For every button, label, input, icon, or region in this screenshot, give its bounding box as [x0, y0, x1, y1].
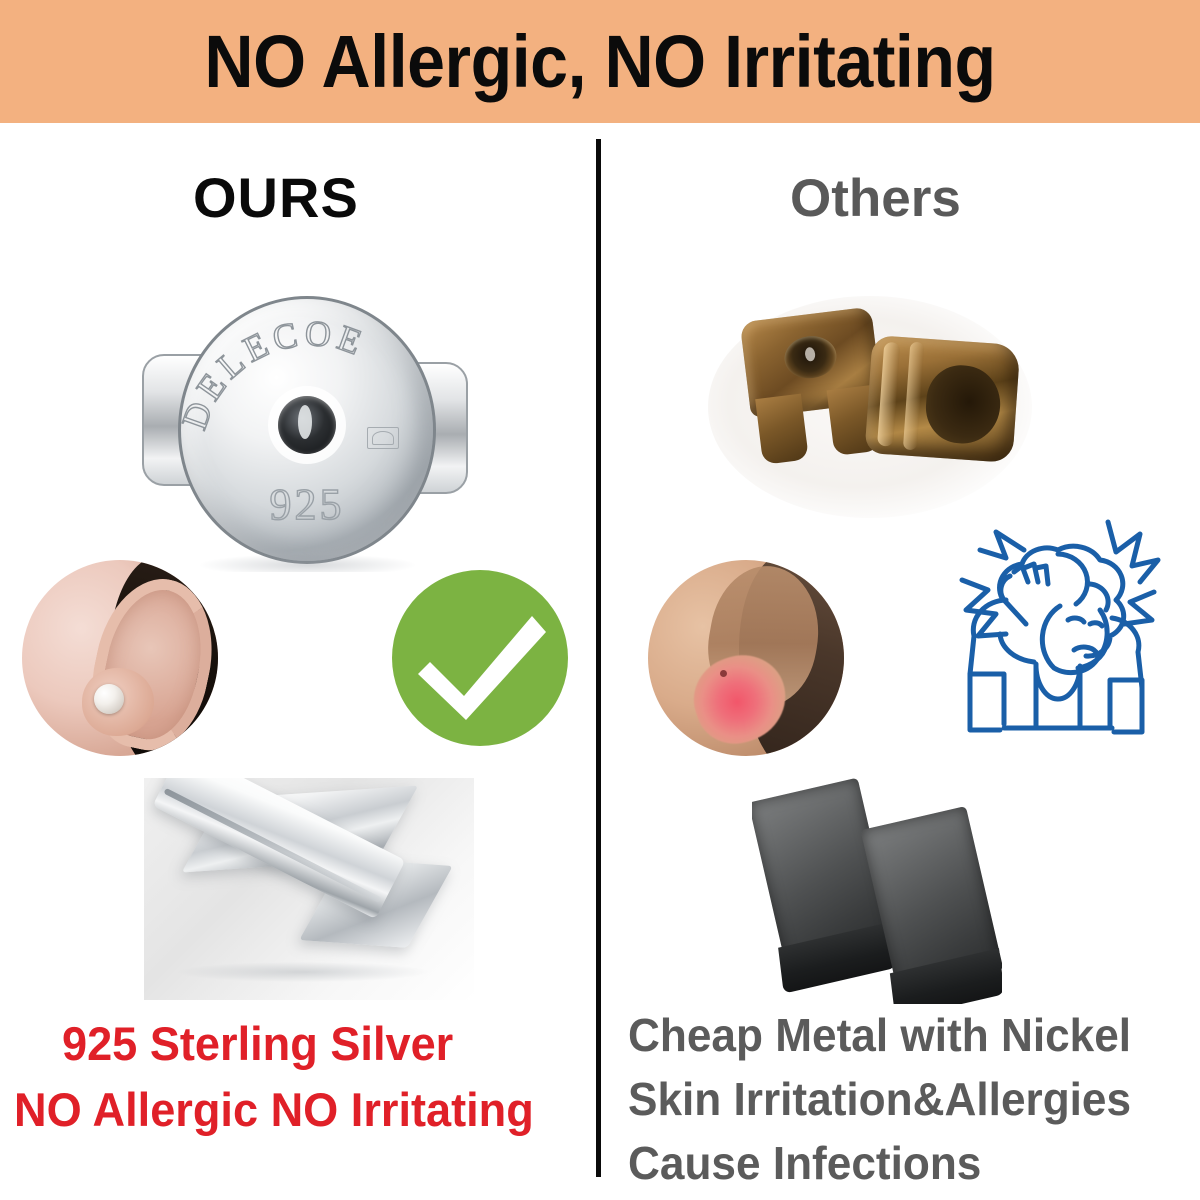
- engraved-brand-text: DELECOE: [181, 313, 371, 435]
- earring-back-shadow: [200, 554, 415, 572]
- pearl-earring: [94, 684, 124, 714]
- check-icon: [392, 570, 568, 746]
- caption-others-line-1: Cheap Metal with Nickel: [628, 1012, 1131, 1059]
- silver-ingots-shadow: [178, 962, 428, 982]
- earring-back-center-hole: [278, 396, 336, 454]
- engraved-hallmark-icon: [367, 427, 399, 449]
- engraved-purity-text: 925: [181, 483, 433, 527]
- column-heading-others: Others: [790, 172, 961, 225]
- healthy-ear-photo: [22, 560, 218, 756]
- column-heading-ours: OURS: [193, 170, 359, 226]
- bronze-earring-backs-image: [700, 288, 1040, 526]
- earring-back-disc: DELECOE 925: [178, 296, 436, 564]
- page-title: NO Allergic, NO Irritating: [204, 25, 995, 99]
- piercing-hole: [720, 670, 727, 677]
- headache-person-icon: [940, 514, 1166, 742]
- column-divider: [596, 139, 601, 1177]
- dark-metal-ingots-image: [752, 778, 1002, 1004]
- caption-others-line-3: Cause Infections: [628, 1140, 981, 1187]
- irritated-ear-photo: [648, 560, 844, 756]
- silver-ingots-image: [144, 778, 474, 1000]
- caption-ours-line-2: NO Allergic NO Irritating: [14, 1086, 534, 1134]
- caption-others-line-2: Skin Irritation&Allergies: [628, 1076, 1131, 1123]
- silver-earring-back-image: DELECOE 925: [140, 292, 470, 572]
- header-banner: NO Allergic, NO Irritating: [0, 0, 1200, 123]
- caption-ours-line-1: 925 Sterling Silver: [62, 1020, 453, 1068]
- bronze-back-left-leg-a: [755, 394, 809, 465]
- bronze-back-right: [864, 335, 1021, 477]
